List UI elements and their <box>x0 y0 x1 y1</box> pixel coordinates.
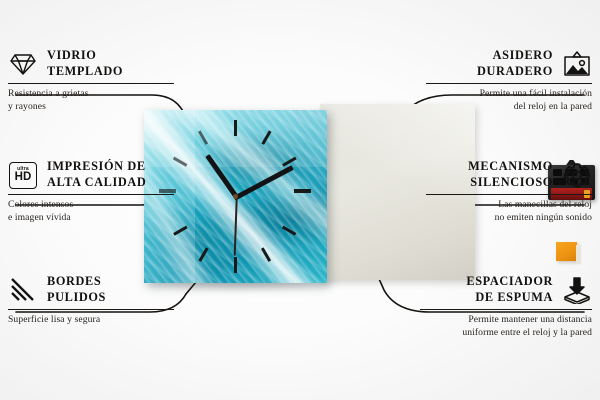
hd-badge-hd-text: HD <box>15 172 32 184</box>
feature-subtitle-line2: y rayones <box>8 101 174 114</box>
feature-divider <box>8 309 174 310</box>
foam-spacer <box>556 242 577 261</box>
feature-subtitle: Resistencia a grietas y rayones <box>8 88 174 114</box>
feature-title-line1: ESPACIADOR <box>420 274 553 290</box>
feature-mecanismo-silencioso: MECANISMO SILENCIOSO Las manecillas del … <box>426 157 592 225</box>
feature-espaciador-espuma: ESPACIADOR DE ESPUMA Permite mantener un… <box>420 272 592 340</box>
feature-title-line1: ASIDERO <box>426 48 553 64</box>
feature-title: VIDRIO TEMPLADO <box>47 48 174 79</box>
feature-divider <box>8 194 174 195</box>
product-photo <box>131 98 475 286</box>
hour-marker-6 <box>234 257 237 273</box>
ultra-hd-badge-icon: ultra HD <box>8 160 38 190</box>
feature-vidrio-templado: VIDRIO TEMPLADO Resistencia a grietas y … <box>8 46 174 114</box>
feature-subtitle-line2: no emiten ningún sonido <box>426 212 592 225</box>
feature-subtitle-line1: Permite una fácil instalación <box>426 88 592 101</box>
diamond-icon <box>8 49 38 79</box>
feature-subtitle-line2: e imagen vívida <box>8 212 174 225</box>
feature-title: IMPRESIÓN DE ALTA CALIDAD <box>47 159 174 190</box>
feature-title-line1: VIDRIO <box>47 48 174 64</box>
feature-impresion-alta-calidad: ultra HD IMPRESIÓN DE ALTA CALIDAD Color… <box>8 157 174 225</box>
feature-title: ESPACIADOR DE ESPUMA <box>420 274 553 305</box>
hour-marker-12 <box>234 120 237 136</box>
feature-subtitle: Superficie lisa y segura <box>8 314 174 327</box>
feature-title-line1: IMPRESIÓN DE <box>47 159 174 175</box>
feature-divider <box>426 83 592 84</box>
feature-divider <box>420 309 592 310</box>
clock-center-cap <box>233 194 238 199</box>
feature-bordes-pulidos: BORDES PULIDOS Superficie lisa y segura <box>8 272 174 327</box>
feature-subtitle-line2: del reloj en la pared <box>426 101 592 114</box>
feature-title-line2: ALTA CALIDAD <box>47 175 174 191</box>
feature-asidero-duradero: ASIDERO DURADERO Permite una fácil insta… <box>426 46 592 114</box>
feature-title: MECANISMO SILENCIOSO <box>426 159 553 190</box>
feature-title: BORDES PULIDOS <box>47 274 174 305</box>
feature-title-line2: PULIDOS <box>47 290 174 306</box>
feature-subtitle-line2: uniforme entre el reloj y la pared <box>420 327 592 340</box>
hour-marker-3 <box>294 189 311 193</box>
feature-title-line2: DURADERO <box>426 64 553 80</box>
infographic-canvas: VIDRIO TEMPLADO Resistencia a grietas y … <box>0 0 600 400</box>
polished-edges-icon <box>8 275 38 305</box>
feature-divider <box>426 194 592 195</box>
feature-subtitle: Permite una fácil instalación del reloj … <box>426 88 592 114</box>
feature-title-line2: SILENCIOSO <box>426 175 553 191</box>
feature-subtitle: Las manecillas del reloj no emiten ningú… <box>426 199 592 225</box>
feature-title-line2: TEMPLADO <box>47 64 174 80</box>
feature-subtitle: Permite mantener una distancia uniforme … <box>420 314 592 340</box>
feature-subtitle-line1: Superficie lisa y segura <box>8 314 174 327</box>
hanging-frame-icon <box>562 49 592 79</box>
feature-divider <box>8 83 174 84</box>
feature-title: ASIDERO DURADERO <box>426 48 553 79</box>
feature-subtitle-line1: Permite mantener una distancia <box>420 314 592 327</box>
feature-subtitle: Colores intensos e imagen vívida <box>8 199 174 225</box>
feature-subtitle-line1: Las manecillas del reloj <box>426 199 592 212</box>
feature-title-line2: DE ESPUMA <box>420 290 553 306</box>
feature-title-line1: BORDES <box>47 274 174 290</box>
feature-title-line1: MECANISMO <box>426 159 553 175</box>
gear-icon <box>562 160 592 190</box>
foam-spacer-icon <box>562 275 592 305</box>
feature-subtitle-line1: Colores intensos <box>8 199 174 212</box>
feature-subtitle-line1: Resistencia a grietas <box>8 88 174 101</box>
